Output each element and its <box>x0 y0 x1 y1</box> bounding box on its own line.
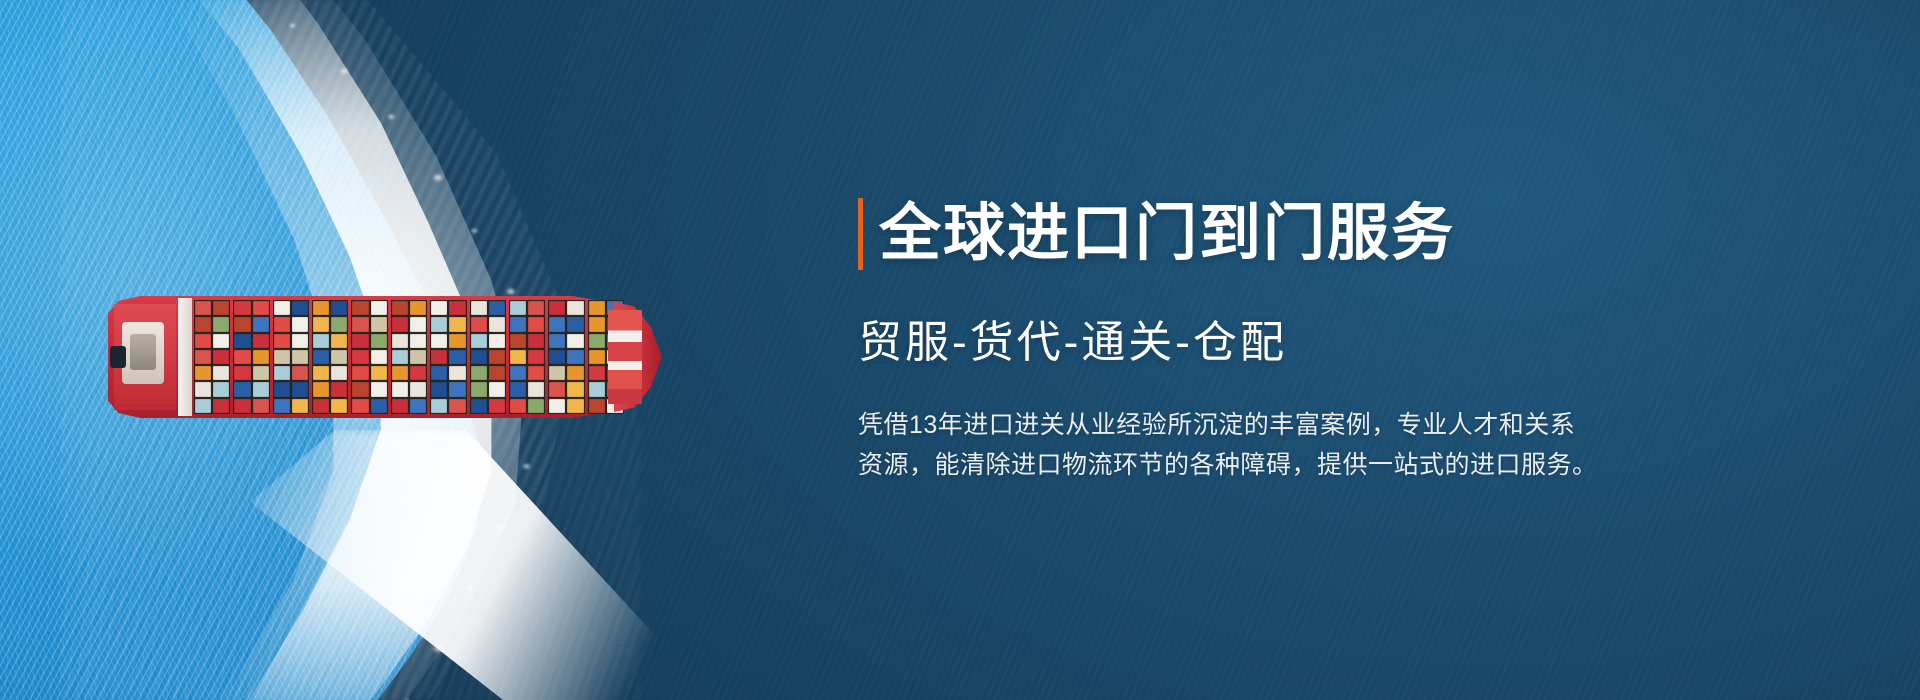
shipping-container <box>234 334 250 348</box>
shipping-container <box>392 334 408 348</box>
container-row <box>234 366 268 380</box>
shipping-container <box>234 399 250 413</box>
shipping-container <box>195 366 211 380</box>
shipping-container <box>510 382 526 396</box>
shipping-container <box>371 399 387 413</box>
shipping-container <box>567 399 583 413</box>
container-row <box>431 334 465 348</box>
shipping-container <box>313 334 329 348</box>
container-row <box>195 382 229 396</box>
shipping-container <box>410 334 426 348</box>
shipping-container <box>371 317 387 331</box>
shipping-container <box>549 399 565 413</box>
page-title: 全球进口门到门服务 <box>879 198 1455 270</box>
container-bay <box>548 300 584 414</box>
container-row <box>510 350 544 364</box>
shipping-container <box>371 334 387 348</box>
container-row <box>392 334 426 348</box>
shipping-container <box>549 301 565 315</box>
shipping-container <box>274 350 290 364</box>
shipping-container <box>234 382 250 396</box>
shipping-container <box>274 399 290 413</box>
shipping-container <box>449 301 465 315</box>
shipping-container <box>471 301 487 315</box>
shipping-container <box>352 366 368 380</box>
shipping-container <box>292 366 308 380</box>
shipping-container <box>449 399 465 413</box>
shipping-container <box>589 382 605 396</box>
container-bay <box>391 300 427 414</box>
container-bay <box>470 300 506 414</box>
shipping-container <box>510 317 526 331</box>
shipping-container <box>471 382 487 396</box>
shipping-container <box>449 317 465 331</box>
shipping-container <box>410 317 426 331</box>
shipping-container <box>528 382 544 396</box>
container-row <box>313 399 347 413</box>
container-row <box>352 399 386 413</box>
container-bay <box>351 300 387 414</box>
shipping-container <box>195 317 211 331</box>
container-bay <box>312 300 348 414</box>
container-row <box>313 334 347 348</box>
shipping-container <box>549 366 565 380</box>
container-ship <box>108 296 648 418</box>
shipping-container <box>253 350 269 364</box>
container-bay <box>233 300 269 414</box>
shipping-container <box>331 399 347 413</box>
ship-bridge-house <box>130 334 156 370</box>
description-line-2: 资源，能清除进口物流环节的各种障碍，提供一站式的进口服务。 <box>858 445 1798 485</box>
shipping-container <box>352 350 368 364</box>
container-row <box>274 334 308 348</box>
shipping-container <box>352 334 368 348</box>
container-row <box>234 317 268 331</box>
shipping-container <box>489 301 505 315</box>
shipping-container <box>431 301 447 315</box>
shipping-container <box>392 382 408 396</box>
shipping-container <box>195 399 211 413</box>
shipping-container <box>471 350 487 364</box>
container-row <box>234 301 268 315</box>
container-bay <box>430 300 466 414</box>
shipping-container <box>449 334 465 348</box>
container-row <box>510 399 544 413</box>
shipping-container <box>274 317 290 331</box>
container-row <box>352 334 386 348</box>
shipping-container <box>253 301 269 315</box>
shipping-container <box>449 382 465 396</box>
container-row <box>549 366 583 380</box>
shipping-container <box>292 301 308 315</box>
shipping-container <box>213 399 229 413</box>
container-row <box>431 382 465 396</box>
container-row <box>392 366 426 380</box>
container-row <box>313 366 347 380</box>
shipping-container <box>274 382 290 396</box>
shipping-container <box>313 399 329 413</box>
shipping-container <box>567 334 583 348</box>
container-row <box>274 301 308 315</box>
container-row <box>274 366 308 380</box>
shipping-container <box>449 366 465 380</box>
shipping-container <box>567 317 583 331</box>
shipping-container <box>410 399 426 413</box>
shipping-container <box>352 382 368 396</box>
container-row <box>234 334 268 348</box>
container-row <box>274 350 308 364</box>
shipping-container <box>331 334 347 348</box>
shipping-container <box>471 366 487 380</box>
shipping-container <box>253 317 269 331</box>
shipping-container <box>489 399 505 413</box>
shipping-container <box>313 350 329 364</box>
shipping-container <box>371 301 387 315</box>
container-row <box>392 301 426 315</box>
shipping-container <box>253 399 269 413</box>
container-row <box>352 366 386 380</box>
shipping-container <box>274 366 290 380</box>
shipping-container <box>410 382 426 396</box>
shipping-container <box>528 350 544 364</box>
container-row <box>471 350 505 364</box>
container-row <box>195 350 229 364</box>
shipping-container <box>471 334 487 348</box>
shipping-container <box>528 366 544 380</box>
container-row <box>392 399 426 413</box>
shipping-container <box>392 317 408 331</box>
shipping-container <box>234 350 250 364</box>
container-row <box>195 334 229 348</box>
shipping-container <box>234 366 250 380</box>
container-row <box>392 350 426 364</box>
wake-trail-texture <box>80 400 640 700</box>
shipping-container <box>331 350 347 364</box>
shipping-container <box>589 366 605 380</box>
shipping-container <box>510 366 526 380</box>
shipping-container <box>331 317 347 331</box>
shipping-container <box>195 382 211 396</box>
shipping-container <box>213 317 229 331</box>
container-row <box>471 317 505 331</box>
shipping-container <box>528 399 544 413</box>
subtitle: 贸服-货代-通关-仓配 <box>858 316 1287 370</box>
shipping-container <box>431 350 447 364</box>
shipping-container <box>549 334 565 348</box>
container-row <box>549 301 583 315</box>
shipping-container <box>392 366 408 380</box>
shipping-container <box>510 301 526 315</box>
shipping-container <box>549 350 565 364</box>
container-row <box>549 350 583 364</box>
shipping-container <box>331 301 347 315</box>
shipping-container <box>410 350 426 364</box>
container-bays <box>194 300 624 414</box>
shipping-container <box>489 317 505 331</box>
container-row <box>549 334 583 348</box>
container-row <box>431 366 465 380</box>
shipping-container <box>352 399 368 413</box>
shipping-container <box>528 317 544 331</box>
container-bay <box>273 300 309 414</box>
shipping-container <box>253 334 269 348</box>
shipping-container <box>213 334 229 348</box>
ship-bow-containers <box>608 310 642 404</box>
shipping-container <box>313 382 329 396</box>
shipping-container <box>510 399 526 413</box>
container-row <box>471 301 505 315</box>
shipping-container <box>274 301 290 315</box>
container-row <box>274 382 308 396</box>
shipping-container <box>253 366 269 380</box>
shipping-container <box>392 399 408 413</box>
ship-white-divider <box>178 298 192 416</box>
shipping-container <box>431 366 447 380</box>
description-line-1: 凭借13年进口进关从业经验所沉淀的丰富案例，专业人才和关系 <box>858 405 1798 445</box>
container-row <box>234 382 268 396</box>
shipping-container <box>352 301 368 315</box>
container-row <box>510 334 544 348</box>
shipping-container <box>410 366 426 380</box>
shipping-container <box>313 317 329 331</box>
container-row <box>313 317 347 331</box>
hero-banner: 全球进口门到门服务 贸服-货代-通关-仓配 凭借13年进口进关从业经验所沉淀的丰… <box>0 0 1920 700</box>
shipping-container <box>431 317 447 331</box>
container-row <box>352 350 386 364</box>
container-row <box>549 382 583 396</box>
container-row <box>234 350 268 364</box>
shipping-container <box>589 350 605 364</box>
shipping-container <box>213 350 229 364</box>
shipping-container <box>292 382 308 396</box>
ship-funnel <box>110 346 126 368</box>
shipping-container <box>489 350 505 364</box>
container-row <box>549 317 583 331</box>
container-row <box>431 399 465 413</box>
shipping-container <box>567 350 583 364</box>
shipping-container <box>549 317 565 331</box>
shipping-container <box>510 350 526 364</box>
container-row <box>431 301 465 315</box>
shipping-container <box>528 301 544 315</box>
container-row <box>510 366 544 380</box>
shipping-container <box>431 399 447 413</box>
shipping-container <box>589 399 605 413</box>
container-row <box>392 317 426 331</box>
container-row <box>471 382 505 396</box>
shipping-container <box>392 301 408 315</box>
container-row <box>313 350 347 364</box>
container-row <box>510 301 544 315</box>
shipping-container <box>489 366 505 380</box>
shipping-container <box>213 301 229 315</box>
shipping-container <box>234 301 250 315</box>
shipping-container <box>567 301 583 315</box>
shipping-container <box>471 317 487 331</box>
shipping-container <box>195 301 211 315</box>
container-row <box>274 317 308 331</box>
container-row <box>195 399 229 413</box>
shipping-container <box>195 350 211 364</box>
container-row <box>195 301 229 315</box>
shipping-container <box>431 382 447 396</box>
shipping-container <box>489 334 505 348</box>
shipping-container <box>292 350 308 364</box>
container-row <box>510 382 544 396</box>
container-row <box>352 382 386 396</box>
shipping-container <box>313 366 329 380</box>
shipping-container <box>213 382 229 396</box>
shipping-container <box>449 350 465 364</box>
shipping-container <box>195 334 211 348</box>
accent-bar-icon <box>858 198 863 270</box>
shipping-container <box>589 301 605 315</box>
container-row <box>234 399 268 413</box>
container-row <box>392 382 426 396</box>
shipping-container <box>253 382 269 396</box>
shipping-container <box>489 382 505 396</box>
shipping-container <box>589 317 605 331</box>
shipping-container <box>292 334 308 348</box>
shipping-container <box>567 382 583 396</box>
container-row <box>549 399 583 413</box>
shipping-container <box>410 301 426 315</box>
container-row <box>471 399 505 413</box>
shipping-container <box>549 382 565 396</box>
shipping-container <box>567 366 583 380</box>
shipping-container <box>313 301 329 315</box>
container-row <box>471 366 505 380</box>
shipping-container <box>510 334 526 348</box>
container-row <box>471 334 505 348</box>
shipping-container <box>213 366 229 380</box>
container-row <box>431 350 465 364</box>
container-row <box>352 301 386 315</box>
container-row <box>431 317 465 331</box>
shipping-container <box>292 317 308 331</box>
shipping-container <box>371 366 387 380</box>
shipping-container <box>352 317 368 331</box>
shipping-container <box>371 350 387 364</box>
shipping-container <box>331 382 347 396</box>
shipping-container <box>528 334 544 348</box>
container-row <box>313 382 347 396</box>
container-row <box>352 317 386 331</box>
container-row <box>195 317 229 331</box>
shipping-container <box>392 350 408 364</box>
container-bay <box>194 300 230 414</box>
shipping-container <box>431 334 447 348</box>
description-block: 凭借13年进口进关从业经验所沉淀的丰富案例，专业人才和关系 资源，能清除进口物流… <box>858 405 1798 485</box>
shipping-container <box>371 382 387 396</box>
container-row <box>510 317 544 331</box>
shipping-container <box>234 317 250 331</box>
container-row <box>313 301 347 315</box>
container-row <box>274 399 308 413</box>
banner-content: 全球进口门到门服务 贸服-货代-通关-仓配 凭借13年进口进关从业经验所沉淀的丰… <box>858 0 1858 700</box>
shipping-container <box>331 366 347 380</box>
shipping-container <box>274 334 290 348</box>
headline-row: 全球进口门到门服务 <box>858 198 1455 270</box>
container-bay <box>509 300 545 414</box>
shipping-container <box>292 399 308 413</box>
shipping-container <box>589 334 605 348</box>
shipping-container <box>471 399 487 413</box>
container-row <box>195 366 229 380</box>
